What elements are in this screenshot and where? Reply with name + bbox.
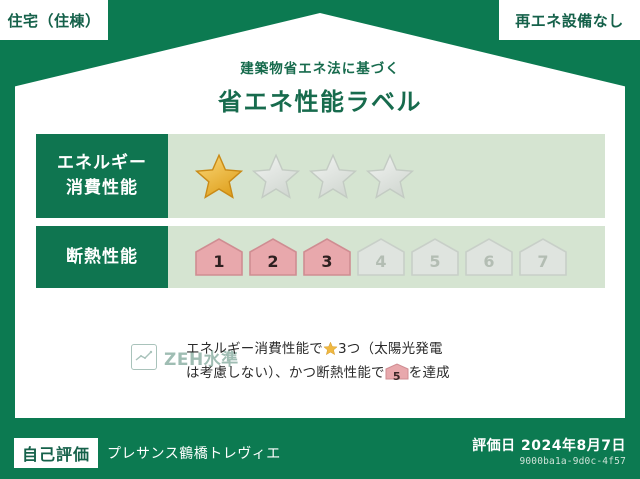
footer-left: 自己評価 プレサンス鶴橋トレヴィエ xyxy=(14,438,281,468)
insulation-badge-active: 1 xyxy=(194,237,244,277)
zeh-standard-indicator: ZEH水準 xyxy=(36,330,156,370)
building-type-tag-label: 住宅（住棟） xyxy=(7,10,100,31)
insulation-badge-inactive: 5 xyxy=(410,237,460,277)
title-main: 省エネ性能ラベル xyxy=(0,82,640,117)
note-part1: エネルギー消費性能で xyxy=(186,341,323,357)
row-energy-label-line1: エネルギー xyxy=(57,151,147,176)
title-subtitle: 建築物省エネ法に基づく xyxy=(0,57,640,77)
insulation-badge-value: 7 xyxy=(537,252,548,277)
row-insulation-label: 断熱性能 xyxy=(36,226,168,288)
star-empty xyxy=(365,152,415,200)
row-energy-consumption-body xyxy=(168,134,605,218)
insulation-badge-value: 5 xyxy=(429,252,440,277)
note-star-count: 3つ（太陽光発電 xyxy=(338,341,443,357)
insulation-badge-inactive: 6 xyxy=(464,237,514,277)
insulation-badge-active: 2 xyxy=(248,237,298,277)
evaluation-type-badge: 自己評価 xyxy=(14,438,98,468)
row-energy-consumption-label: エネルギー 消費性能 xyxy=(36,134,168,218)
row-insulation-body: 1234567 xyxy=(168,226,605,288)
insulation-badge-value: 1 xyxy=(213,252,224,277)
inline-grade-badge: 5 xyxy=(385,363,409,380)
insulation-badge-value: 4 xyxy=(375,252,386,277)
achievement-note: エネルギー消費性能で3つ（太陽光発電は考慮しない）、かつ断熱性能で5を達成 xyxy=(156,330,616,385)
insulation-badge-value: 3 xyxy=(321,252,332,277)
label-id: 9000ba1a-9d0c-4f57 xyxy=(472,456,626,469)
footer-right: 評価日 2024年8月7日 9000ba1a-9d0c-4f57 xyxy=(472,437,626,469)
row-energy-consumption: エネルギー 消費性能 xyxy=(36,134,605,218)
performance-rows: エネルギー 消費性能 断熱性能 1234567 xyxy=(36,134,605,296)
note-area: ZEH水準 エネルギー消費性能で3つ（太陽光発電は考慮しない）、かつ断熱性能で5… xyxy=(36,330,616,385)
zeh-chart-icon xyxy=(131,344,157,370)
renewable-equipment-tag-label: 再エネ設備なし xyxy=(515,10,624,31)
insulation-grade-badges: 1234567 xyxy=(194,237,568,277)
row-insulation: 断熱性能 1234567 xyxy=(36,226,605,288)
evaluation-date: 評価日 2024年8月7日 xyxy=(472,437,626,456)
insulation-badge-inactive: 4 xyxy=(356,237,406,277)
note-part3: を達成 xyxy=(409,365,450,381)
row-energy-label-line2: 消費性能 xyxy=(66,176,138,201)
star-empty xyxy=(251,152,301,200)
star-empty xyxy=(308,152,358,200)
evaluation-date-label: 評価日 xyxy=(472,438,516,454)
building-type-tag: 住宅（住棟） xyxy=(0,0,108,40)
insulation-badge-value: 2 xyxy=(267,252,278,277)
evaluation-date-value: 2024年8月7日 xyxy=(521,438,626,454)
footer: 自己評価 プレサンス鶴橋トレヴィエ 評価日 2024年8月7日 9000ba1a… xyxy=(0,427,640,479)
energy-label-root: 住宅（住棟） 再エネ設備なし 建築物省エネ法に基づく 省エネ性能ラベル エネルギ… xyxy=(0,0,640,479)
insulation-badge-active: 3 xyxy=(302,237,352,277)
star-filled xyxy=(194,152,244,200)
insulation-badge-inactive: 7 xyxy=(518,237,568,277)
note-part2: は考慮しない）、かつ断熱性能で xyxy=(186,365,385,381)
property-name: プレサンス鶴橋トレヴィエ xyxy=(107,443,281,463)
insulation-badge-value: 6 xyxy=(483,252,494,277)
renewable-equipment-tag: 再エネ設備なし xyxy=(499,0,640,40)
inline-grade-badge-value: 5 xyxy=(385,363,409,386)
page-title: 建築物省エネ法に基づく 省エネ性能ラベル xyxy=(0,57,640,117)
inline-star-icon xyxy=(323,341,338,356)
star-rating xyxy=(194,152,415,200)
row-insulation-label-line1: 断熱性能 xyxy=(66,245,138,270)
